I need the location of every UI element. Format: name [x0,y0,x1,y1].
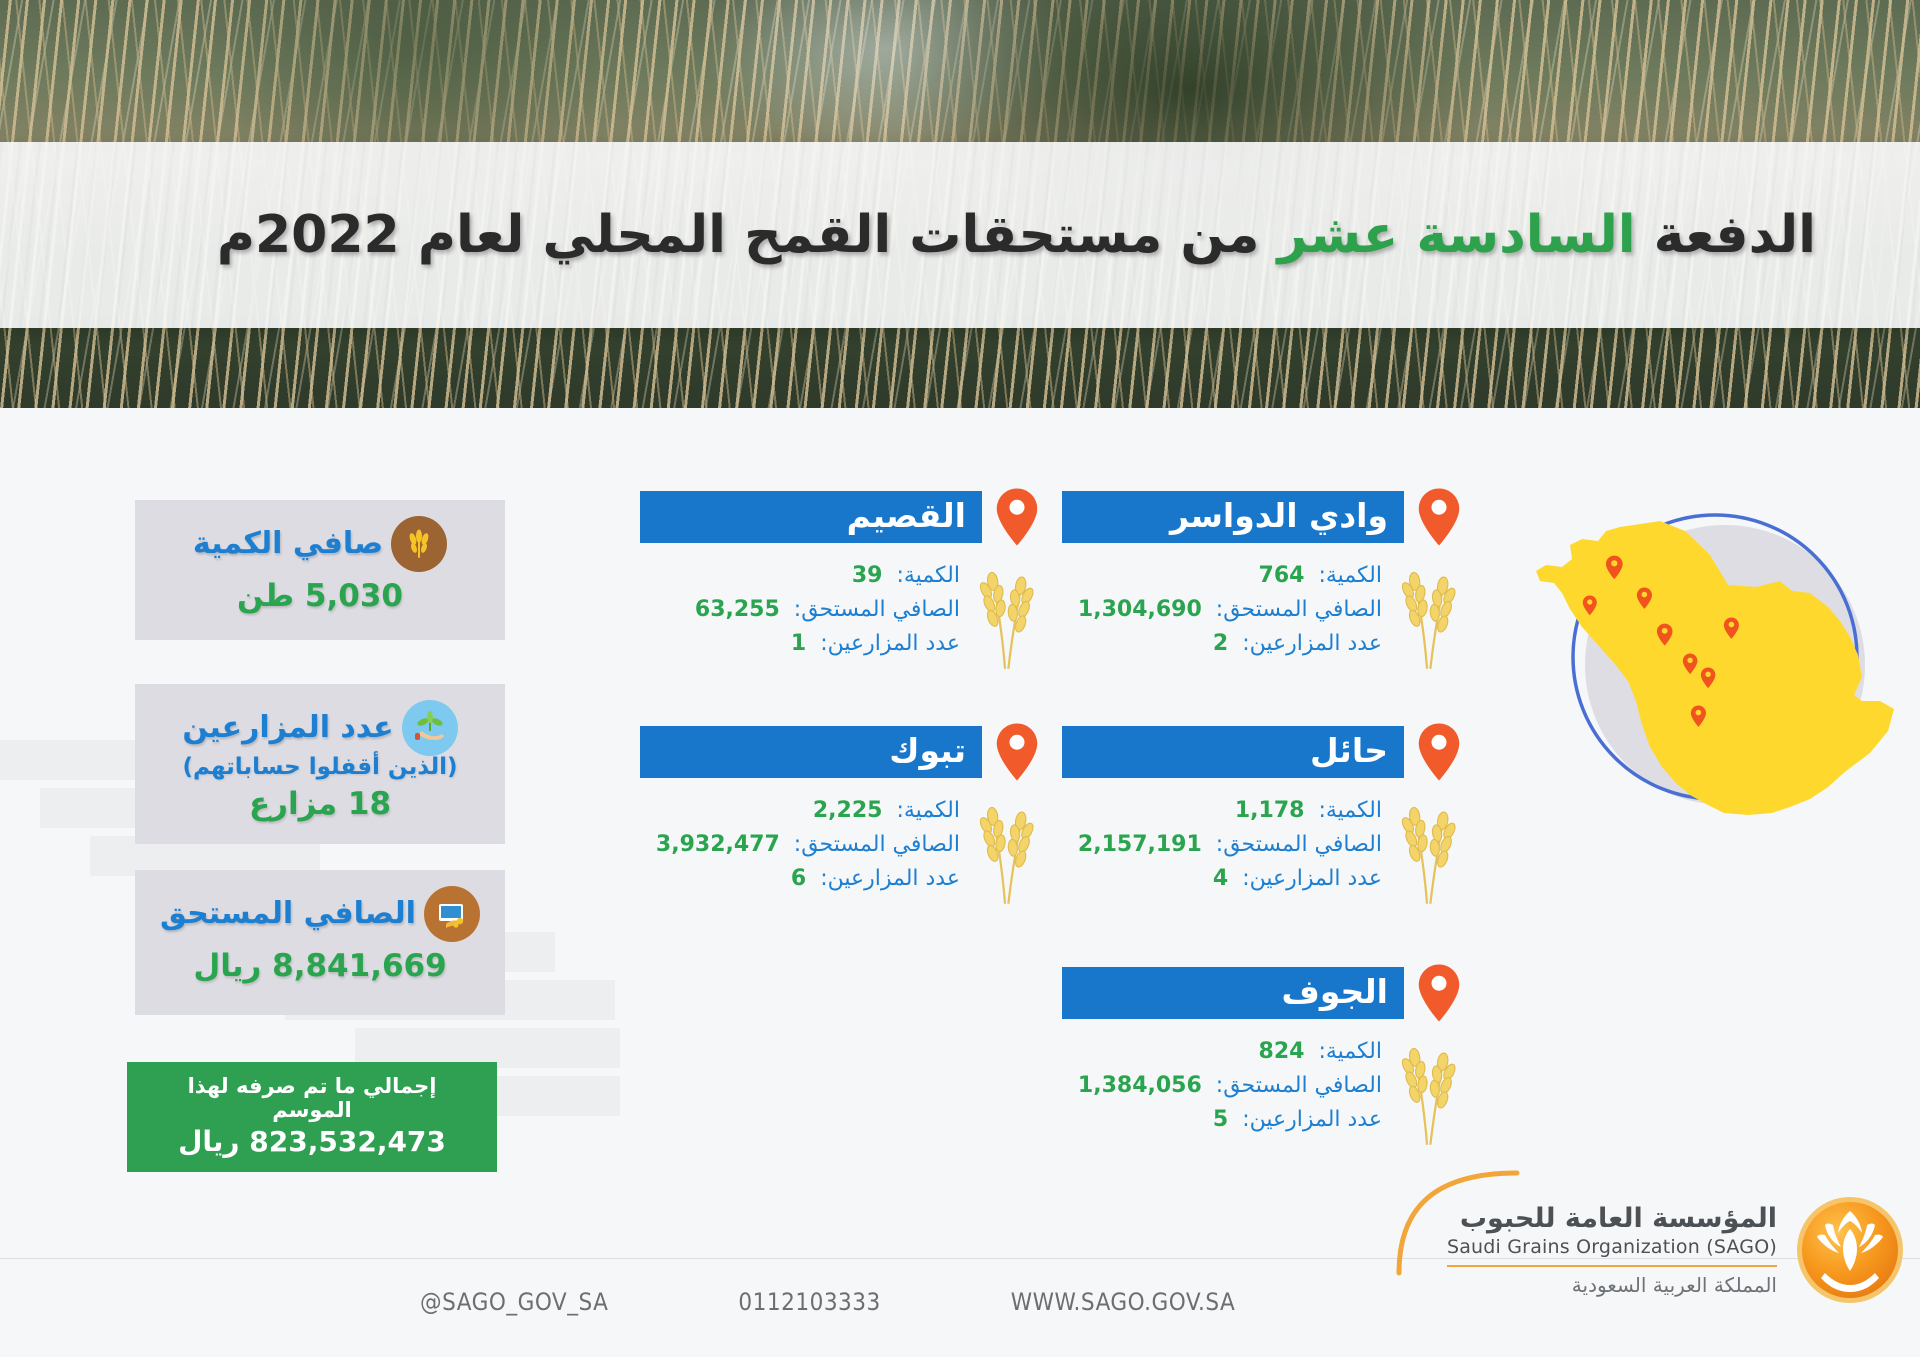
map-pin-icon [994,487,1040,547]
region-card-tabuk: تبوك [640,722,1040,906]
region-body: الكمية: 2,225 الصافي المستحق: 3,932,477 … [640,794,1040,906]
region-card-hail: حائل [1062,722,1462,906]
phone-number[interactable]: 0112103333 [738,1288,880,1316]
summary-card-title-row: الصافي المستحق [157,886,483,942]
region-stat-quantity: الكمية: 2,225 [640,798,960,823]
stat-label-quantity: الكمية: [896,563,960,588]
summary-card-title: الصافي المستحق [160,897,416,932]
plant-hand-badge-icon [402,700,458,756]
stat-label-farmers: عدد المزارعين: [820,866,960,891]
region-name: وادي الدواسر [1062,491,1404,543]
stat-value-quantity: 764 [1259,563,1305,588]
wheat-stalks-icon [970,559,1040,671]
stat-value-farmers: 4 [1213,866,1228,891]
region-header: حائل [1062,722,1462,782]
region-stats: الكمية: 1,178 الصافي المستحق: 2,157,191 … [1062,794,1382,900]
summary-card-title-row: صافي الكمية [157,516,483,572]
region-stat-quantity: الكمية: 824 [1062,1039,1382,1064]
page-title: الدفعة السادسة عشر من مستحقات القمح المح… [217,205,1920,265]
region-stats: الكمية: 2,225 الصافي المستحق: 3,932,477 … [640,794,960,900]
summary-card-farmers-count: عدد المزارعين (الذين أقفلوا حساباتهم) 18… [135,684,505,844]
card-fold [135,640,162,667]
region-stat-net-due: الصافي المستحق: 1,384,056 [1062,1073,1382,1098]
region-body: الكمية: 1,178 الصافي المستحق: 2,157,191 … [1062,794,1462,906]
wheat-stalks-icon [1392,1035,1462,1147]
region-stats: الكمية: 39 الصافي المستحق: 63,255 عدد ال… [640,559,960,665]
stat-value-net-due: 1,304,690 [1078,597,1202,622]
summary-card-value: 18 مزارع [157,786,483,822]
stat-value-net-due: 3,932,477 [656,832,780,857]
region-header: الجوف [1062,963,1462,1023]
season-total-box: إجمالي ما تم صرفه لهذا الموسم 823,532,47… [127,1062,497,1172]
stat-value-net-due: 1,384,056 [1078,1073,1202,1098]
map-pin-icon [1416,963,1462,1023]
stat-label-farmers: عدد المزارعين: [1242,866,1382,891]
stat-label-quantity: الكمية: [1318,563,1382,588]
region-stat-farmers: عدد المزارعين: 2 [1062,631,1382,656]
stat-value-farmers: 1 [791,631,806,656]
stat-label-farmers: عدد المزارعين: [1242,1107,1382,1132]
region-card-wadi-aldawasir: وادي الدواسر [1062,487,1462,671]
title-band: الدفعة السادسة عشر من مستحقات القمح المح… [0,142,1920,328]
summary-card-net-quantity: صافي الكمية 5,030 طن [135,500,505,640]
map-pin-icon [994,722,1040,782]
stat-label-net-due: الصافي المستحق: [794,597,960,622]
summary-card-net-due: الصافي المستحق 8,841,669 ريال [135,870,505,1015]
stat-label-net-due: الصافي المستحق: [1216,1073,1382,1098]
saudi-arabia-map [1510,495,1900,825]
wheat-stalks-icon [1392,794,1462,906]
stat-label-net-due: الصافي المستحق: [794,832,960,857]
region-header: تبوك [640,722,1040,782]
stat-value-net-due: 63,255 [695,597,780,622]
stat-value-quantity: 1,178 [1235,798,1305,823]
region-stat-net-due: الصافي المستحق: 1,304,690 [1062,597,1382,622]
stat-value-net-due: 2,157,191 [1078,832,1202,857]
summary-card-value: 8,841,669 ريال [157,948,483,984]
region-body: الكمية: 764 الصافي المستحق: 1,304,690 عد… [1062,559,1462,671]
stat-value-farmers: 5 [1213,1107,1228,1132]
region-name: الجوف [1062,967,1404,1019]
summary-card-title: صافي الكمية [193,527,383,562]
region-name: القصيم [640,491,982,543]
stat-label-farmers: عدد المزارعين: [820,631,960,656]
stat-value-quantity: 824 [1259,1039,1305,1064]
region-body: الكمية: 824 الصافي المستحق: 1,384,056 عد… [1062,1035,1462,1147]
stat-value-farmers: 6 [791,866,806,891]
title-prefix: الدفعة [1636,205,1816,265]
region-card-aljouf: الجوف [1062,963,1462,1147]
region-stat-farmers: عدد المزارعين: 6 [640,866,960,891]
wheat-stalks-icon [970,794,1040,906]
region-stat-net-due: الصافي المستحق: 63,255 [640,597,960,622]
season-total-label: إجمالي ما تم صرفه لهذا الموسم [145,1074,479,1122]
region-stat-net-due: الصافي المستحق: 3,932,477 [640,832,960,857]
region-header: وادي الدواسر [1062,487,1462,547]
map-pin-icon [1416,722,1462,782]
region-stat-quantity: الكمية: 764 [1062,563,1382,588]
region-stats: الكمية: 764 الصافي المستحق: 1,304,690 عد… [1062,559,1382,665]
stat-label-quantity: الكمية: [896,798,960,823]
region-stat-farmers: عدد المزارعين: 4 [1062,866,1382,891]
stat-value-farmers: 2 [1213,631,1228,656]
website-url[interactable]: WWW.SAGO.GOV.SA [1011,1288,1236,1316]
stat-label-net-due: الصافي المستحق: [1216,832,1382,857]
title-suffix: من مستحقات القمح المحلي لعام 2022م [217,205,1278,265]
wheat-stalks-icon [1392,559,1462,671]
stat-label-farmers: عدد المزارعين: [1242,631,1382,656]
twitter-handle[interactable]: @SAGO_GOV_SA [420,1288,608,1316]
wheat-badge-icon [391,516,447,572]
logo-swoosh-icon [1395,1167,1525,1277]
region-body: الكمية: 39 الصافي المستحق: 63,255 عدد ال… [640,559,1040,671]
region-stat-quantity: الكمية: 39 [640,563,960,588]
sago-logo: المؤسسة العامة للحبوب Saudi Grains Organ… [1395,1175,1905,1325]
summary-card-title-row: عدد المزارعين [157,700,483,756]
payment-badge-icon [424,886,480,942]
region-stat-net-due: الصافي المستحق: 2,157,191 [1062,832,1382,857]
region-stat-quantity: الكمية: 1,178 [1062,798,1382,823]
summary-card-value: 5,030 طن [157,578,483,614]
region-stat-farmers: عدد المزارعين: 1 [640,631,960,656]
stat-label-net-due: الصافي المستحق: [1216,597,1382,622]
stat-label-quantity: الكمية: [1318,1039,1382,1064]
region-header: القصيم [640,487,1040,547]
stat-value-quantity: 2,225 [813,798,883,823]
summary-card-subtitle: (الذين أقفلوا حساباتهم) [157,754,483,780]
region-name: تبوك [640,726,982,778]
title-highlight: السادسة عشر [1278,205,1636,265]
sago-emblem-icon [1795,1195,1905,1305]
region-name: حائل [1062,726,1404,778]
stat-value-quantity: 39 [852,563,883,588]
region-stat-farmers: عدد المزارعين: 5 [1062,1107,1382,1132]
region-card-qassim: القصيم [640,487,1040,671]
region-stats: الكمية: 824 الصافي المستحق: 1,384,056 عد… [1062,1035,1382,1141]
stat-label-quantity: الكمية: [1318,798,1382,823]
season-total-value: 823,532,473 ريال [145,1125,479,1158]
summary-card-title: عدد المزارعين [182,711,393,746]
map-pin-icon [1416,487,1462,547]
header-banner: الدفعة السادسة عشر من مستحقات القمح المح… [0,0,1920,408]
